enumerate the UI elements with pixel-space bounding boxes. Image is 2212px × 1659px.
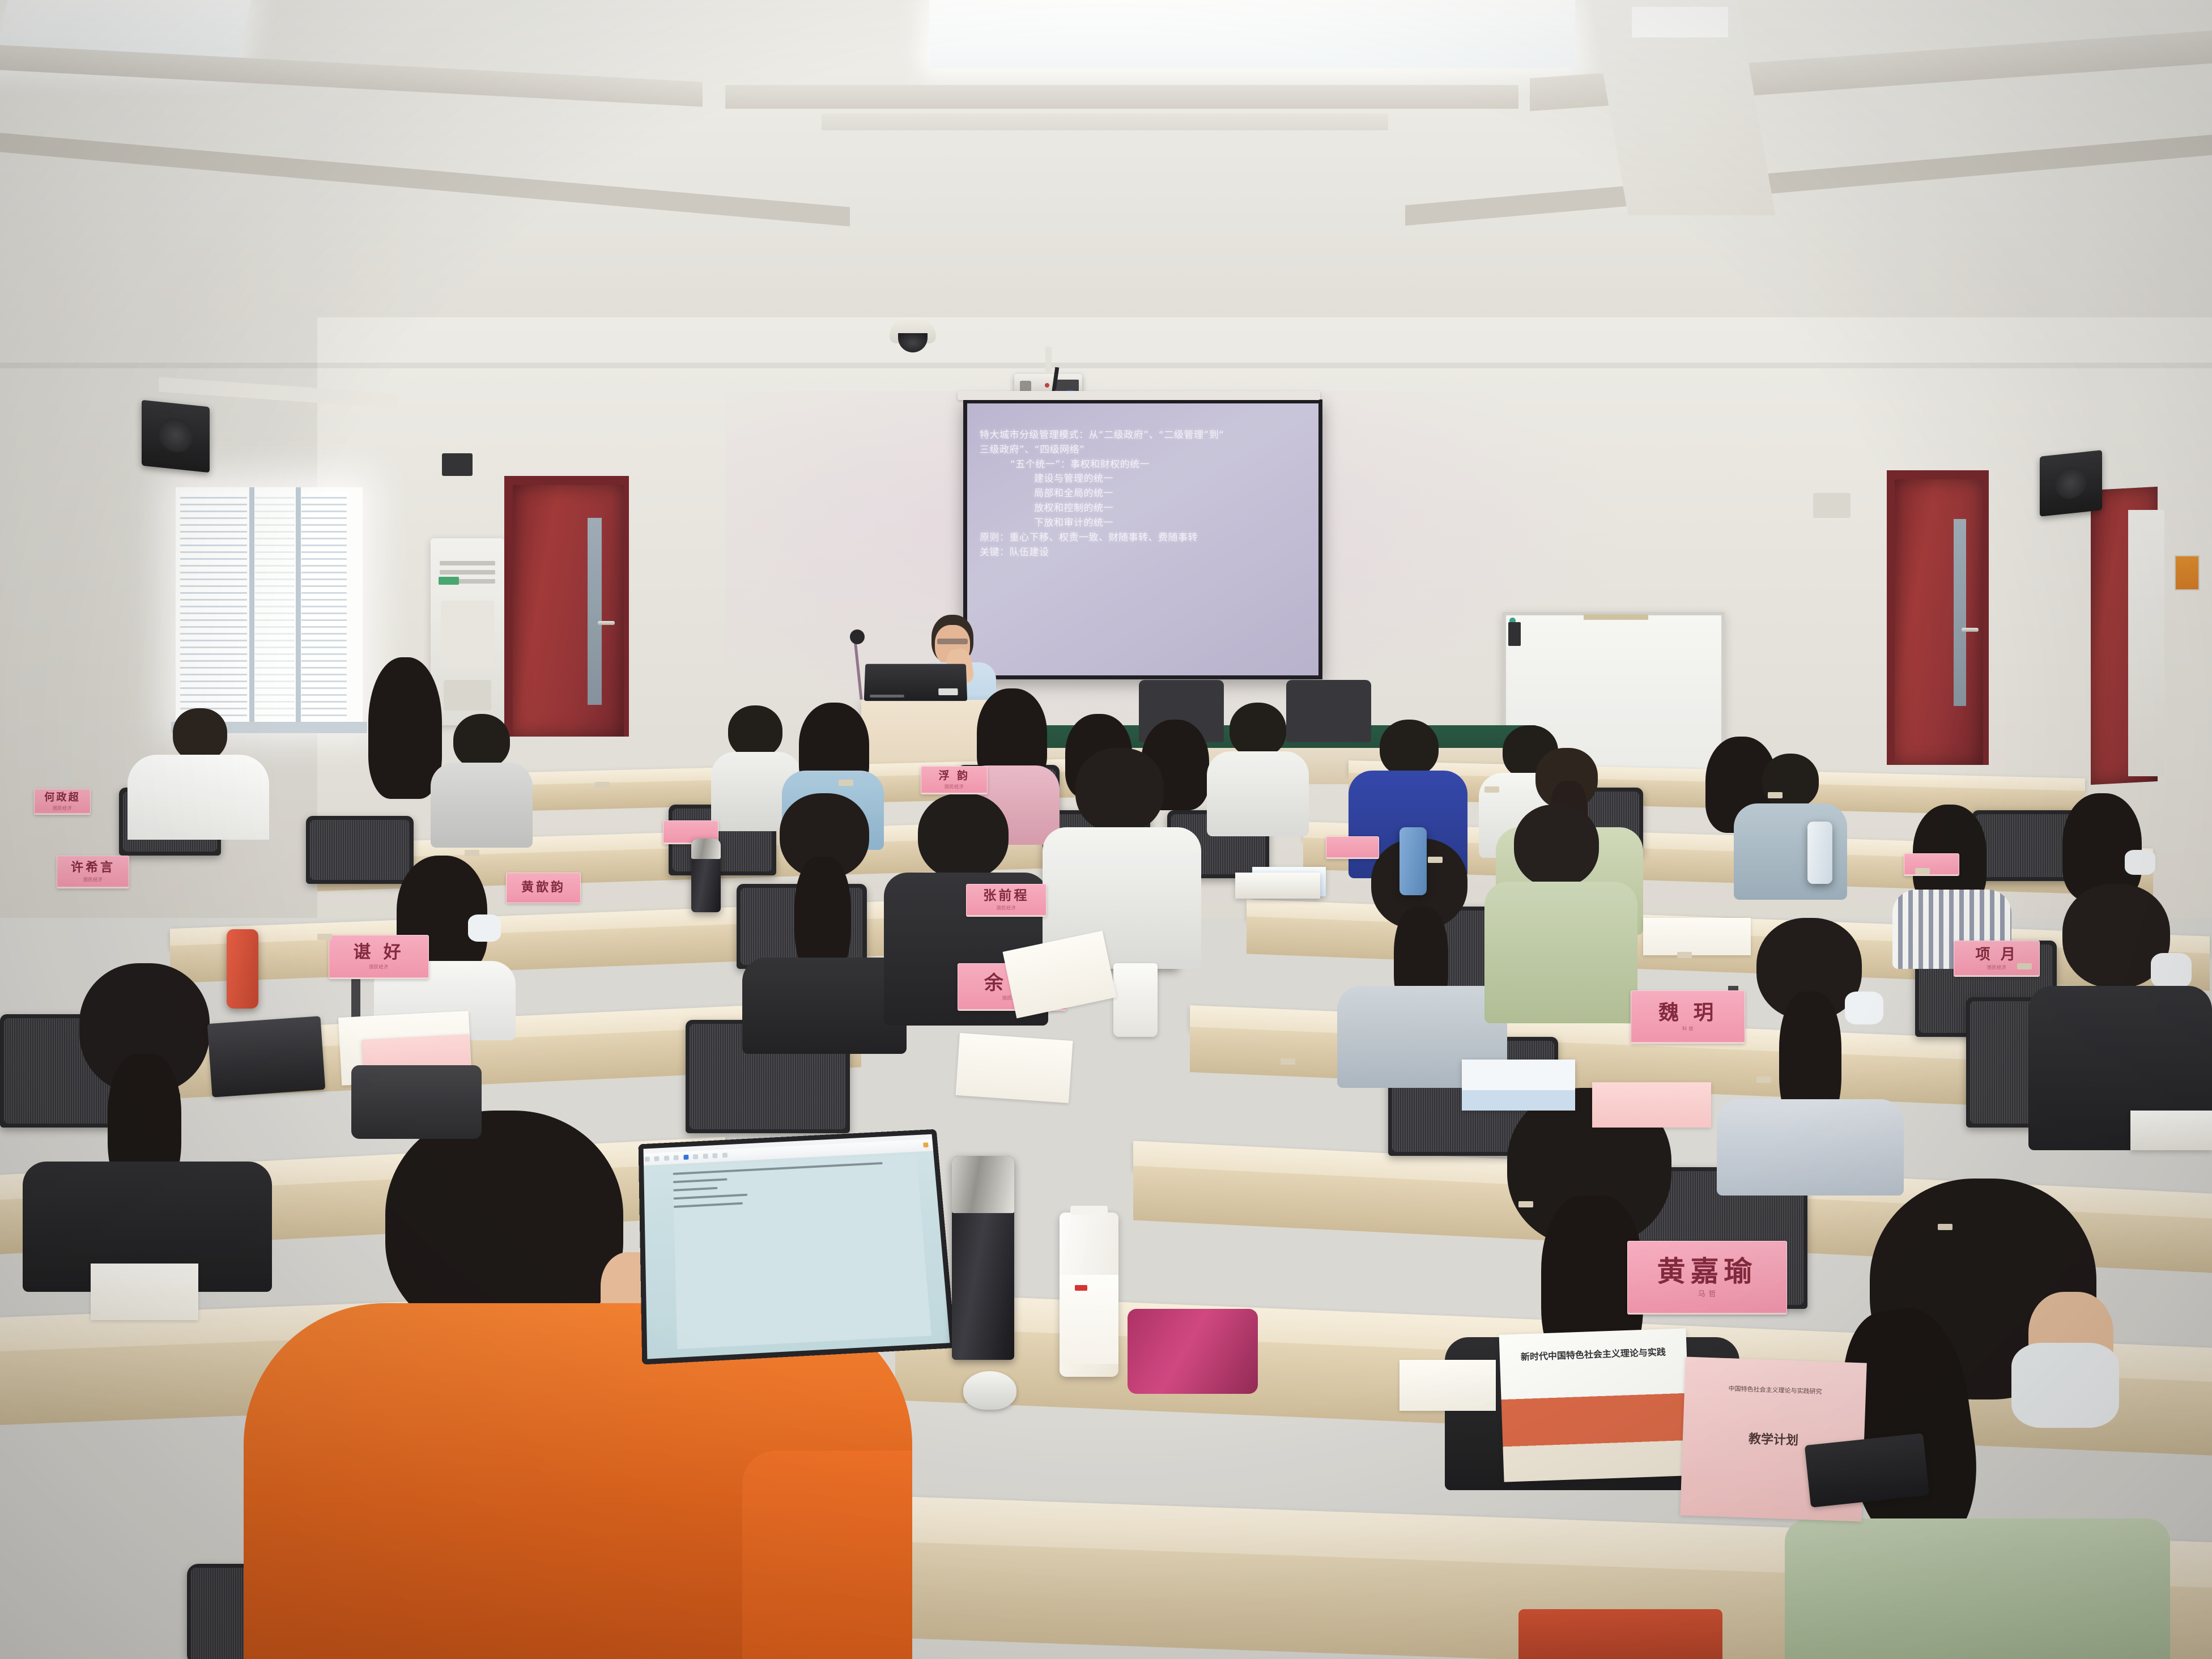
notebook[interactable] — [1235, 873, 1320, 899]
name-card: 许希言 国民经济 — [57, 856, 129, 888]
paper-note[interactable] — [1399, 1360, 1496, 1411]
name-card — [1326, 836, 1379, 859]
name-card-subtitle: 科 技 — [1682, 1026, 1694, 1032]
door-handle-left[interactable] — [598, 621, 615, 625]
student — [1484, 805, 1637, 1020]
name-card-name: 黄嘉瑜 — [1657, 1257, 1758, 1286]
red-bag[interactable] — [1518, 1609, 1722, 1659]
desk-rail-clip — [465, 850, 479, 856]
classroom-door-right[interactable] — [1895, 479, 1983, 765]
slide-line: 放权和控制的统一 — [980, 501, 1311, 516]
name-card: 浮 韵 国民经济 — [921, 766, 988, 794]
student-head — [1514, 805, 1599, 887]
tablet[interactable] — [207, 1016, 326, 1098]
window-shutter-mid[interactable] — [255, 492, 295, 721]
student-head — [918, 793, 1009, 879]
speaker-cone — [159, 416, 193, 454]
desk-rail-clip — [595, 782, 610, 788]
name-card: 黄嘉瑜 马 哲 — [1627, 1241, 1787, 1315]
student-top — [1785, 1518, 2170, 1659]
water-bottle-clear[interactable] — [1807, 822, 1832, 884]
desk-rail-clip — [1756, 1077, 1771, 1083]
student-head — [1380, 720, 1439, 776]
student-top — [431, 763, 533, 848]
wall-speaker-left — [142, 400, 210, 473]
wall-fixture-right — [1813, 493, 1851, 518]
paper-sheet[interactable] — [1643, 918, 1751, 955]
name-card: 张前程 国民经济 — [966, 884, 1047, 917]
student — [127, 708, 269, 839]
doc-line — [673, 1162, 883, 1175]
face-mask — [468, 914, 501, 942]
slide-line: “五个统一”：事权和财权的统一 — [980, 458, 1311, 473]
student-head — [173, 708, 227, 762]
water-bottle-blue[interactable] — [1399, 827, 1427, 895]
name-card-subtitle: 马 哲 — [1698, 1288, 1716, 1299]
paper-sheet[interactable] — [955, 1033, 1073, 1103]
door-window-left — [588, 518, 602, 705]
name-card: 魏 玥 科 技 — [1631, 990, 1745, 1044]
book-stack[interactable] — [1462, 1060, 1575, 1111]
face-mask — [2011, 1343, 2119, 1428]
bottle-label — [1060, 1275, 1118, 1364]
travel-cup[interactable] — [1113, 963, 1158, 1037]
name-card-name: 许希言 — [71, 862, 115, 874]
monitor-label — [870, 695, 904, 697]
classroom-photo: 特大城市分级管理模式：从“二级政府”、“二级管理”到“ 三级政府”、“四级网络”… — [0, 0, 2212, 1659]
slide-line: 关键：队伍建设 — [980, 546, 1311, 560]
lectern-monitor[interactable] — [864, 664, 967, 701]
lecturer-glasses — [937, 639, 968, 644]
name-card-name: 张前程 — [983, 890, 1029, 903]
student — [1717, 918, 1904, 1190]
projector-indicator-light — [1045, 383, 1049, 388]
door-window-right — [1954, 519, 1966, 706]
name-card-subtitle: 国民经济 — [83, 877, 103, 883]
toolbar-icon-active[interactable] — [683, 1155, 688, 1160]
name-card-name: 黄歆韵 — [521, 882, 565, 894]
smartphone[interactable] — [1805, 1433, 1929, 1507]
desk-rail-clip — [1915, 868, 1930, 874]
student-top — [742, 958, 907, 1054]
student-top — [1484, 882, 1637, 1023]
ac-vent — [440, 570, 496, 575]
textbook-cover: 新时代中国特色社会主义理论与实践 — [1499, 1328, 1691, 1482]
name-card-name: 浮 韵 — [939, 771, 970, 781]
bottle-cap[interactable] — [691, 839, 721, 859]
desk-rail-clip — [1428, 857, 1443, 863]
name-card-subtitle: 国民经济 — [945, 784, 964, 790]
projector-lens-icon — [1020, 381, 1031, 392]
window-mullion-2 — [296, 487, 301, 725]
name-card: 黄歆韵 — [506, 873, 581, 903]
student-shirt — [127, 755, 269, 840]
speaker-cone — [2055, 465, 2087, 500]
window — [176, 487, 363, 725]
face-mask — [1845, 992, 1883, 1024]
laptop-screen[interactable] — [644, 1134, 950, 1359]
name-card-name: 魏 玥 — [1658, 1003, 1717, 1023]
name-card-subtitle: 国民经济 — [369, 964, 389, 970]
toolbar-icon[interactable] — [664, 1156, 669, 1161]
desk-rail-clip — [1281, 1058, 1295, 1065]
toolbar-icon[interactable] — [654, 1156, 660, 1161]
window-mullion-1 — [249, 487, 254, 725]
thermos-bottle[interactable] — [952, 1156, 1014, 1360]
slide-content: 特大城市分级管理模式：从“二级政府”、“二级管理”到“ 三级政府”、“四级网络”… — [980, 428, 1311, 560]
student — [742, 793, 907, 1043]
student-head — [1762, 754, 1819, 808]
wall-speaker-right — [2040, 450, 2102, 517]
student-head — [728, 705, 782, 758]
desk-rail-clip — [2017, 963, 2032, 969]
monitor-badge — [938, 688, 958, 695]
student-head — [1075, 748, 1164, 833]
slide-line: 局部和全局的统一 — [980, 487, 1311, 501]
ac-vent — [440, 561, 496, 565]
bottle-cap[interactable] — [1070, 1206, 1108, 1215]
water-bottle-small[interactable] — [691, 839, 721, 912]
name-card-subtitle: 国民经济 — [997, 905, 1016, 911]
student-top — [1207, 751, 1309, 836]
ceiling-beam-4 — [822, 113, 1388, 130]
toolbar-icon-warning[interactable] — [923, 1142, 928, 1147]
slide-line: 建设与管理的统一 — [980, 472, 1311, 487]
toolbar-icon[interactable] — [703, 1154, 708, 1159]
computer-mouse[interactable] — [963, 1371, 1016, 1410]
book-cover — [1462, 1060, 1575, 1111]
scarf — [1128, 1309, 1258, 1394]
doc-line — [673, 1187, 717, 1192]
wall-trim — [0, 363, 2212, 368]
water-bottle-red[interactable] — [227, 929, 258, 1009]
wall-mount-bracket-left — [442, 453, 473, 476]
name-card: 项 月 国民经济 — [1954, 941, 2040, 977]
microphone-head-icon — [850, 629, 865, 644]
desk-rail-clip — [1484, 786, 1499, 793]
doc-line — [673, 1178, 727, 1183]
paper-sheet[interactable] — [91, 1264, 198, 1320]
face-mask — [2151, 953, 2192, 988]
desk-rail-clip — [1518, 1201, 1533, 1207]
projection-screen: 特大城市分级管理模式：从“二级政府”、“二级管理”到“ 三级政府”、“四级网络”… — [963, 399, 1322, 679]
thermos-cap[interactable] — [952, 1156, 1014, 1213]
toolbar-icon[interactable] — [712, 1153, 717, 1158]
ceiling-light-right — [1632, 7, 1728, 37]
exit-sign-face — [2176, 556, 2198, 589]
window-shutter-right[interactable] — [301, 492, 347, 721]
student-orange-sleeve — [742, 1450, 912, 1659]
student — [431, 714, 533, 844]
student — [1207, 703, 1309, 833]
name-card: 何政超 国民经济 — [34, 789, 91, 815]
backpack[interactable] — [351, 1065, 482, 1139]
door-handle-right[interactable] — [1962, 628, 1979, 632]
desk-rail-clip — [1768, 792, 1783, 798]
toolbar-icon[interactable] — [722, 1152, 728, 1158]
book[interactable] — [2130, 1111, 2212, 1150]
ac-status-light — [439, 577, 459, 585]
doc-line — [674, 1194, 747, 1200]
face-mask — [2125, 850, 2155, 875]
desk-rail-clip — [1938, 1224, 1952, 1230]
student — [1043, 748, 1201, 963]
name-card-name: 何政超 — [44, 793, 80, 803]
door-reveal-right — [2128, 510, 2164, 776]
drink-bottle[interactable] — [1060, 1213, 1118, 1377]
desk-rail-clip — [317, 934, 332, 940]
slide-line: 下放和审计的统一 — [980, 516, 1311, 531]
name-card: 谌 好 国民经济 — [329, 935, 429, 979]
pink-handout[interactable] — [1592, 1082, 1711, 1128]
toolbar-icon[interactable] — [645, 1156, 650, 1162]
name-card-subtitle: 国民经济 — [1987, 964, 2006, 971]
name-card-subtitle: 国民经济 — [53, 805, 72, 811]
screen-housing — [958, 391, 1320, 400]
doc-line — [674, 1202, 743, 1208]
textbook-title: 新时代中国特色社会主义理论与实践 — [1518, 1347, 1669, 1364]
student-head — [1230, 703, 1286, 757]
skylight-panel-center — [929, 0, 1575, 68]
bottle-brand-tag — [1075, 1285, 1087, 1291]
classroom-door-left[interactable] — [513, 485, 624, 737]
laptop-lid — [639, 1129, 956, 1365]
toolbar-icon[interactable] — [674, 1155, 679, 1160]
toolbar-icon[interactable] — [693, 1154, 698, 1159]
exit-sign — [2175, 555, 2200, 590]
whiteboard-eraser — [1508, 622, 1521, 646]
desk-rail-clip — [839, 780, 853, 786]
student — [23, 963, 272, 1281]
student-head — [453, 714, 510, 768]
laptop[interactable] — [639, 1129, 956, 1365]
slide-line: 三级政府”、“四级网络” — [980, 443, 1311, 458]
document-body[interactable] — [673, 1154, 931, 1349]
slide-line: 特大城市分级管理模式：从“二级政府”、“二级管理”到“ — [980, 428, 1311, 443]
slide-line: 原则：重心下移、权责一致、财随事转、费随事转 — [980, 531, 1311, 546]
whiteboard-clip — [1584, 614, 1648, 620]
textbook[interactable]: 新时代中国特色社会主义理论与实践 — [1499, 1328, 1691, 1482]
handout-subtitle: 中国特色社会主义理论与实践研究 — [1703, 1382, 1848, 1397]
window-shutter-left[interactable] — [180, 492, 247, 721]
name-card-name: 项 月 — [1975, 947, 2018, 962]
desk-rail-clip — [1677, 952, 1692, 958]
student — [1892, 805, 2011, 952]
ceiling-beam-2 — [725, 85, 1518, 109]
name-card-name: 谌 好 — [354, 944, 405, 962]
projector-mount — [1045, 347, 1052, 374]
name-card — [1904, 853, 1959, 876]
